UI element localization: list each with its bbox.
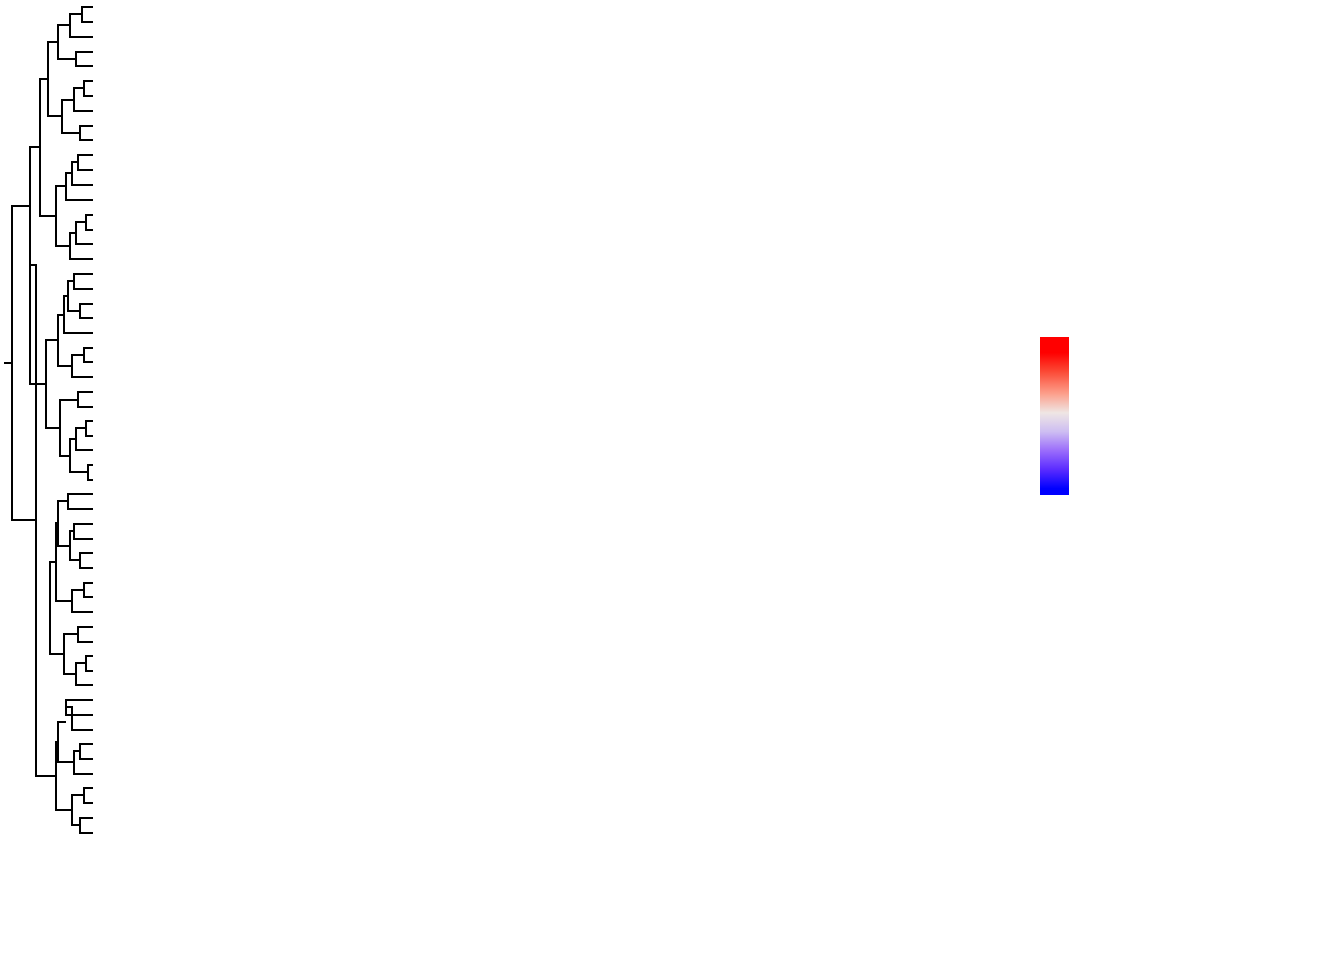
heatmap-grid bbox=[93, 0, 858, 852]
colorbar-legend bbox=[1038, 292, 1338, 507]
row-axis bbox=[858, 0, 1040, 852]
colorbar-gradient bbox=[1040, 337, 1069, 495]
figure-canvas bbox=[0, 0, 1344, 960]
column-axis bbox=[93, 852, 858, 960]
row-dendrogram bbox=[0, 0, 93, 852]
dendrogram-svg bbox=[0, 0, 93, 852]
heatmap-panel bbox=[93, 0, 858, 852]
